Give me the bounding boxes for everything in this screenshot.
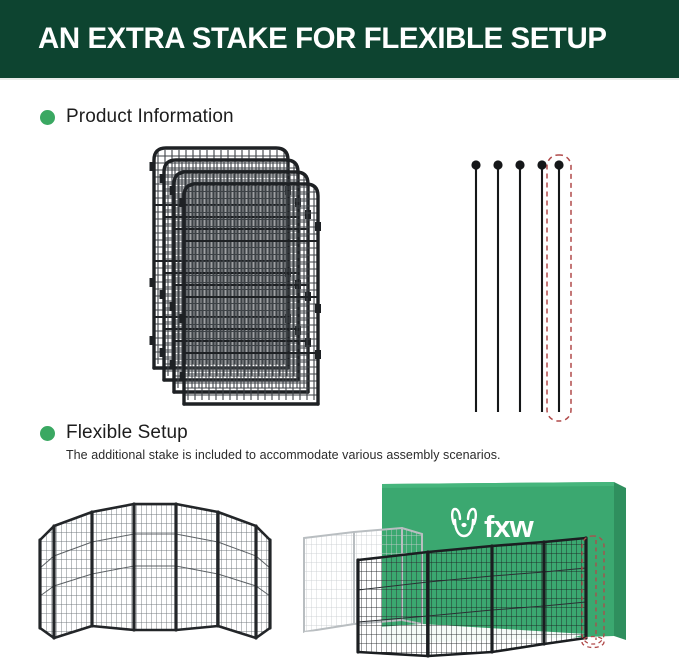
section-label: Product Information bbox=[66, 106, 234, 128]
page-title: AN EXTRA STAKE FOR FLEXIBLE SETUP bbox=[38, 21, 607, 57]
bullet-dot-icon bbox=[40, 110, 55, 125]
stakes-illustration bbox=[458, 152, 573, 424]
pen-panel-front bbox=[40, 504, 270, 638]
section-heading-flexible-setup: Flexible Setup bbox=[40, 422, 188, 444]
section-label: Flexible Setup bbox=[66, 422, 188, 444]
stacked-panels-illustration bbox=[128, 138, 348, 418]
header-banner: AN EXTRA STAKE FOR FLEXIBLE SETUP bbox=[0, 0, 679, 78]
section-subtitle: The additional stake is included to acco… bbox=[66, 448, 501, 462]
stake-4 bbox=[537, 160, 546, 412]
stake-3 bbox=[515, 160, 524, 412]
bullet-dot-icon bbox=[40, 426, 55, 441]
stake-5-extra bbox=[554, 160, 563, 412]
stake-1 bbox=[471, 160, 480, 412]
octagonal-playpen-illustration bbox=[16, 478, 284, 654]
section-heading-product-information: Product Information bbox=[40, 106, 234, 128]
stake-2 bbox=[493, 160, 502, 412]
solid-fence bbox=[358, 538, 586, 656]
wall-scene-illustration: fxw bbox=[296, 472, 642, 660]
header-divider bbox=[0, 78, 679, 80]
svg-text:fxw: fxw bbox=[484, 509, 535, 544]
